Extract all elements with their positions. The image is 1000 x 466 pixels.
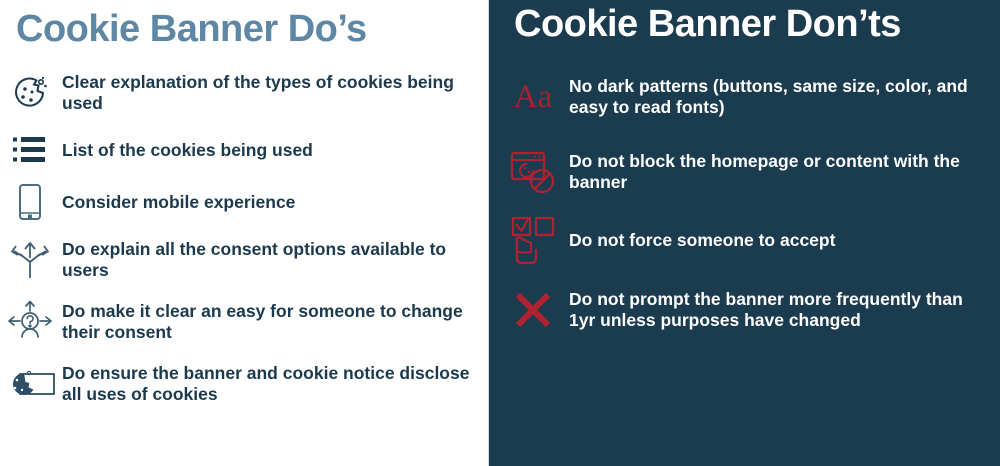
list-item: List of the cookies being used bbox=[0, 124, 489, 176]
checkbox-hand-icon bbox=[505, 212, 561, 268]
list-item: Consider mobile experience bbox=[0, 176, 489, 229]
font-aa-glyph: Aa bbox=[514, 81, 552, 114]
branching-arrows-icon bbox=[4, 234, 56, 286]
font-aa-icon: Aa bbox=[505, 69, 561, 125]
list-item-label: List of the cookies being used bbox=[62, 140, 313, 161]
list-item: Do not block the homepage or content wit… bbox=[489, 133, 1000, 211]
person-question-arrows-icon bbox=[4, 296, 56, 348]
list-item-label: Do explain all the consent options avail… bbox=[62, 239, 479, 281]
list-item: Do explain all the consent options avail… bbox=[0, 229, 489, 291]
cross-x-icon bbox=[505, 282, 561, 338]
donts-list: Aa No dark patterns (buttons, same size,… bbox=[489, 43, 1000, 351]
list-item-label: No dark patterns (buttons, same size, co… bbox=[569, 76, 987, 118]
list-item: Clear explanation of the types of cookie… bbox=[0, 62, 489, 124]
dos-list: Clear explanation of the types of cookie… bbox=[0, 48, 489, 415]
list-item-label: Do ensure the banner and cookie notice d… bbox=[62, 363, 479, 405]
donts-panel: Cookie Banner Don’ts Aa No dark patterns… bbox=[489, 0, 1000, 466]
list-item-label: Consider mobile experience bbox=[62, 192, 295, 213]
list-item-label: Clear explanation of the types of cookie… bbox=[62, 72, 479, 114]
cookie-banner-dos-and-donts-slide: Cookie Banner Do’s Clear explanati bbox=[0, 0, 1000, 466]
mobile-phone-icon bbox=[4, 177, 56, 229]
list-item-label: Do not force someone to accept bbox=[569, 230, 835, 251]
list-item: Do make it clear an easy for someone to … bbox=[0, 291, 489, 353]
list-item: Aa No dark patterns (buttons, same size,… bbox=[489, 61, 1000, 133]
list-icon bbox=[4, 124, 56, 176]
cookie-banner-icon bbox=[4, 358, 60, 410]
dos-panel-title: Cookie Banner Do’s bbox=[0, 0, 489, 48]
list-item: Do not force someone to accept bbox=[489, 211, 1000, 269]
list-item-label: Do not prompt the banner more frequently… bbox=[569, 289, 987, 331]
list-item-label: Do not block the homepage or content wit… bbox=[569, 151, 987, 193]
cookie-icon bbox=[4, 67, 56, 119]
donts-panel-title: Cookie Banner Don’ts bbox=[489, 0, 1000, 43]
list-item-label: Do make it clear an easy for someone to … bbox=[62, 301, 479, 343]
browser-blocked-cookie-icon bbox=[505, 144, 561, 200]
list-item: Do ensure the banner and cookie notice d… bbox=[0, 353, 489, 415]
list-item: Do not prompt the banner more frequently… bbox=[489, 269, 1000, 351]
dos-panel: Cookie Banner Do’s Clear explanati bbox=[0, 0, 489, 466]
